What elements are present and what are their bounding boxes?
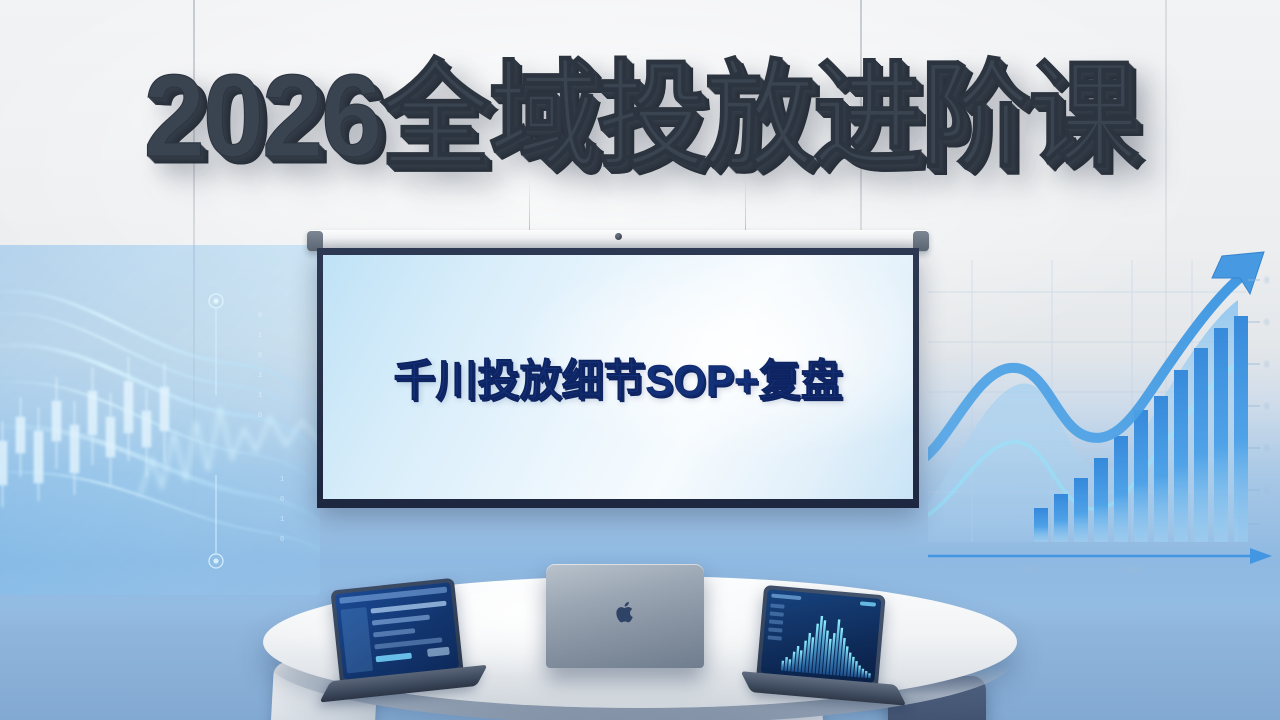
poster-canvas: 010 110 101 0 2026全域投放进阶课 (0, 0, 1280, 720)
screen-drop-wire-left (529, 178, 530, 232)
svg-text:0: 0 (258, 352, 262, 360)
laptop-bar-chart (756, 585, 886, 687)
macbook-closed-lid (546, 564, 704, 668)
screen-surface: 千川投放细节SOP+复盘 (323, 255, 913, 499)
svg-text:0: 0 (1264, 318, 1269, 328)
chart-y-tick-labels: 000 000 (1264, 276, 1269, 496)
conference-scene (0, 490, 1280, 720)
roller-knob-icon (615, 233, 622, 240)
svg-text:0: 0 (1264, 276, 1269, 286)
svg-text:0: 0 (1264, 360, 1269, 370)
svg-text:1: 1 (258, 372, 262, 380)
laptop-dashboard (330, 578, 463, 684)
svg-text:0: 0 (258, 312, 262, 320)
projector-screen: 千川投放细节SOP+复盘 (307, 230, 929, 530)
apple-logo-icon (615, 600, 636, 625)
screen-frame: 千川投放细节SOP+复盘 (317, 248, 919, 508)
svg-text:0: 0 (1264, 402, 1269, 412)
svg-text:1: 1 (258, 332, 262, 340)
svg-text:0: 0 (258, 412, 262, 420)
svg-text:0: 0 (1264, 444, 1269, 454)
svg-text:1: 1 (280, 476, 284, 484)
screen-headline: 千川投放细节SOP+复盘 (393, 345, 842, 408)
chart-y-axis (1248, 280, 1260, 524)
svg-text:1: 1 (258, 392, 262, 400)
screen-drop-wire-right (745, 178, 746, 232)
